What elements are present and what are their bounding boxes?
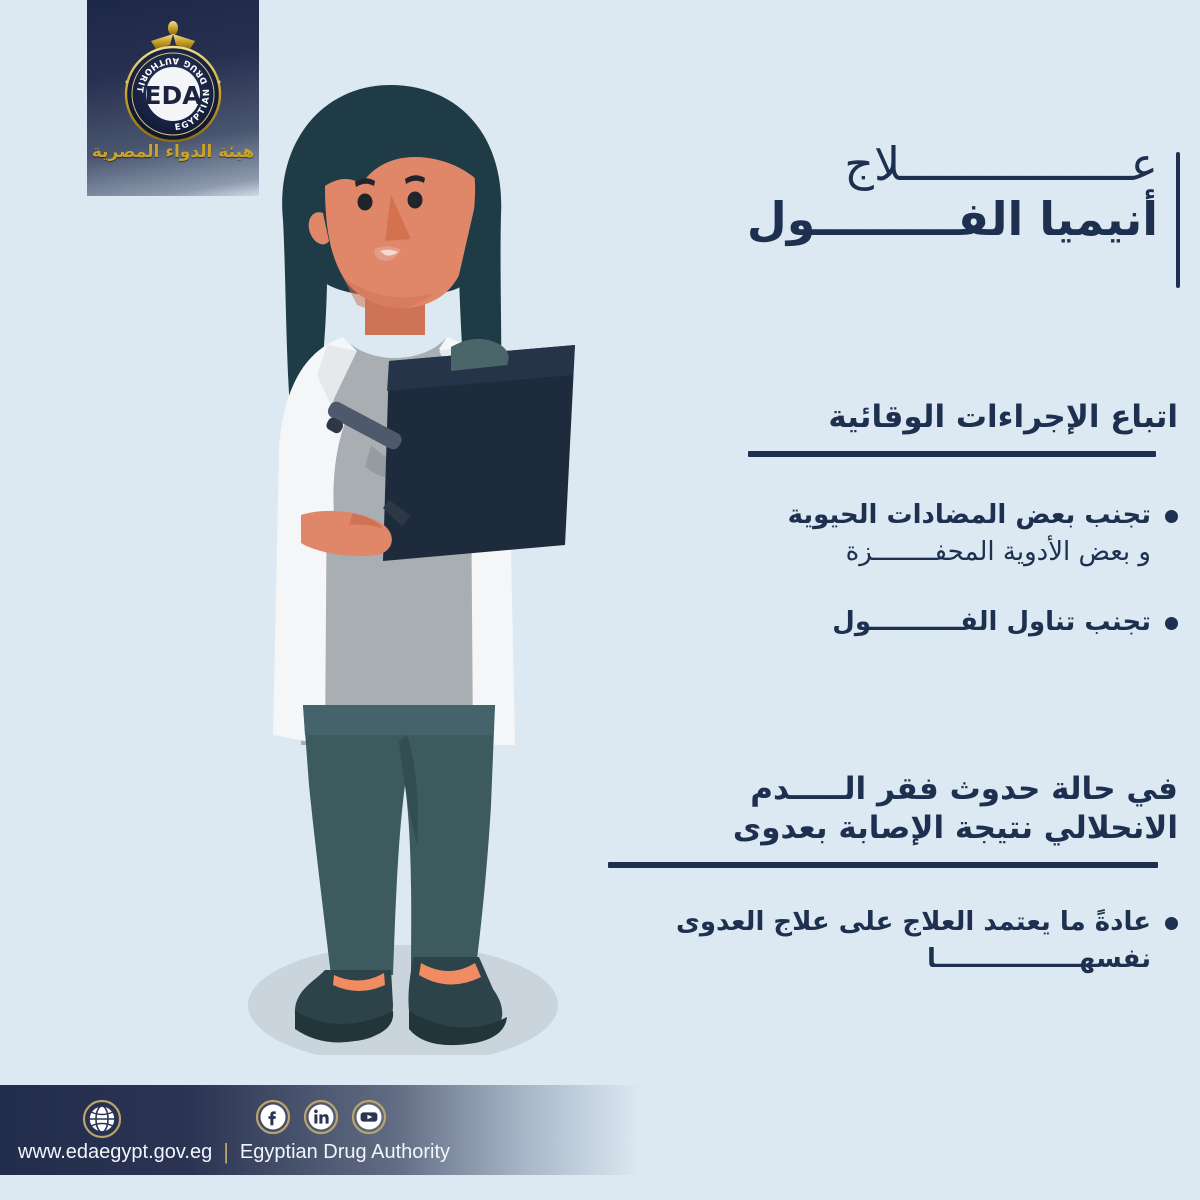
bullet-dot-icon [1165,510,1178,523]
bullet-text-rest: نفسهــــــــــــــــا [927,944,1151,974]
list-item: تجنب بعض المضادات الحيوية و بعض الأدوية … [418,497,1178,572]
facebook-icon[interactable] [255,1099,291,1139]
eye-left [358,194,373,211]
bullet-text-bold: تجنب تناول الفــــــــــول [832,607,1151,637]
section-preventive-measures: اتباع الإجراءات الوقائية تجنب بعض المضاد… [418,398,1178,668]
list-item: عادةً ما يعتمد العلاج على علاج العدوى نف… [418,904,1178,979]
section-2-heading-line2: الانحلالي نتيجة الإصابة بعدوى [418,809,1178,848]
section-1-bullets: تجنب بعض المضادات الحيوية و بعض الأدوية … [418,497,1178,642]
bullet-text-bold: تجنب بعض المضادات الحيوية [788,500,1151,530]
linkedin-icon[interactable] [303,1099,339,1139]
title-divider [1176,152,1180,288]
list-item: تجنب تناول الفــــــــــول [418,604,1178,642]
website-url[interactable]: www.edaegypt.gov.eg [18,1141,212,1164]
title-block: عـــــــــــــــــلاج أنيميا الفــــــــ… [420,140,1180,245]
section-1-heading: اتباع الإجراءات الوقائية [418,398,1178,437]
section-1-underline [748,451,1156,457]
social-links [255,1099,387,1139]
bullet-dot-icon [1165,917,1178,930]
section-2-bullets: عادةً ما يعتمد العلاج على علاج العدوى نف… [418,904,1178,979]
page-title-line1: عـــــــــــــــــلاج [420,140,1158,188]
footer-separator: | [223,1139,229,1165]
bullet-text-rest: و بعض الأدوية المحفــــــــزة [846,537,1151,567]
section-2-underline [608,862,1158,868]
youtube-icon[interactable] [351,1099,387,1139]
infographic-canvas: EDA EGYPTIAN DRUG AUTHORITY هيئة الدواء … [0,0,1200,1200]
footer-text: www.edaegypt.gov.eg | Egyptian Drug Auth… [18,1139,450,1165]
section-hemolytic-anemia: في حالة حدوث فقر الـــــدم الانحلالي نتي… [418,770,1178,1005]
footer-bar: www.edaegypt.gov.eg | Egyptian Drug Auth… [0,1085,640,1175]
bullet-text-bold: عادةً ما يعتمد العلاج على علاج العدوى [676,907,1151,937]
section-2-heading-line1: في حالة حدوث فقر الـــــدم [418,770,1178,809]
organization-name: Egyptian Drug Authority [240,1141,450,1164]
bullet-text: تجنب بعض المضادات الحيوية و بعض الأدوية … [418,497,1151,572]
bullet-dot-icon [1165,617,1178,630]
bullet-text: عادةً ما يعتمد العلاج على علاج العدوى نف… [418,904,1151,979]
bullet-text: تجنب تناول الفــــــــــول [418,604,1151,642]
page-title-line2: أنيميا الفـــــــــول [420,194,1158,245]
globe-icon[interactable] [82,1099,122,1143]
